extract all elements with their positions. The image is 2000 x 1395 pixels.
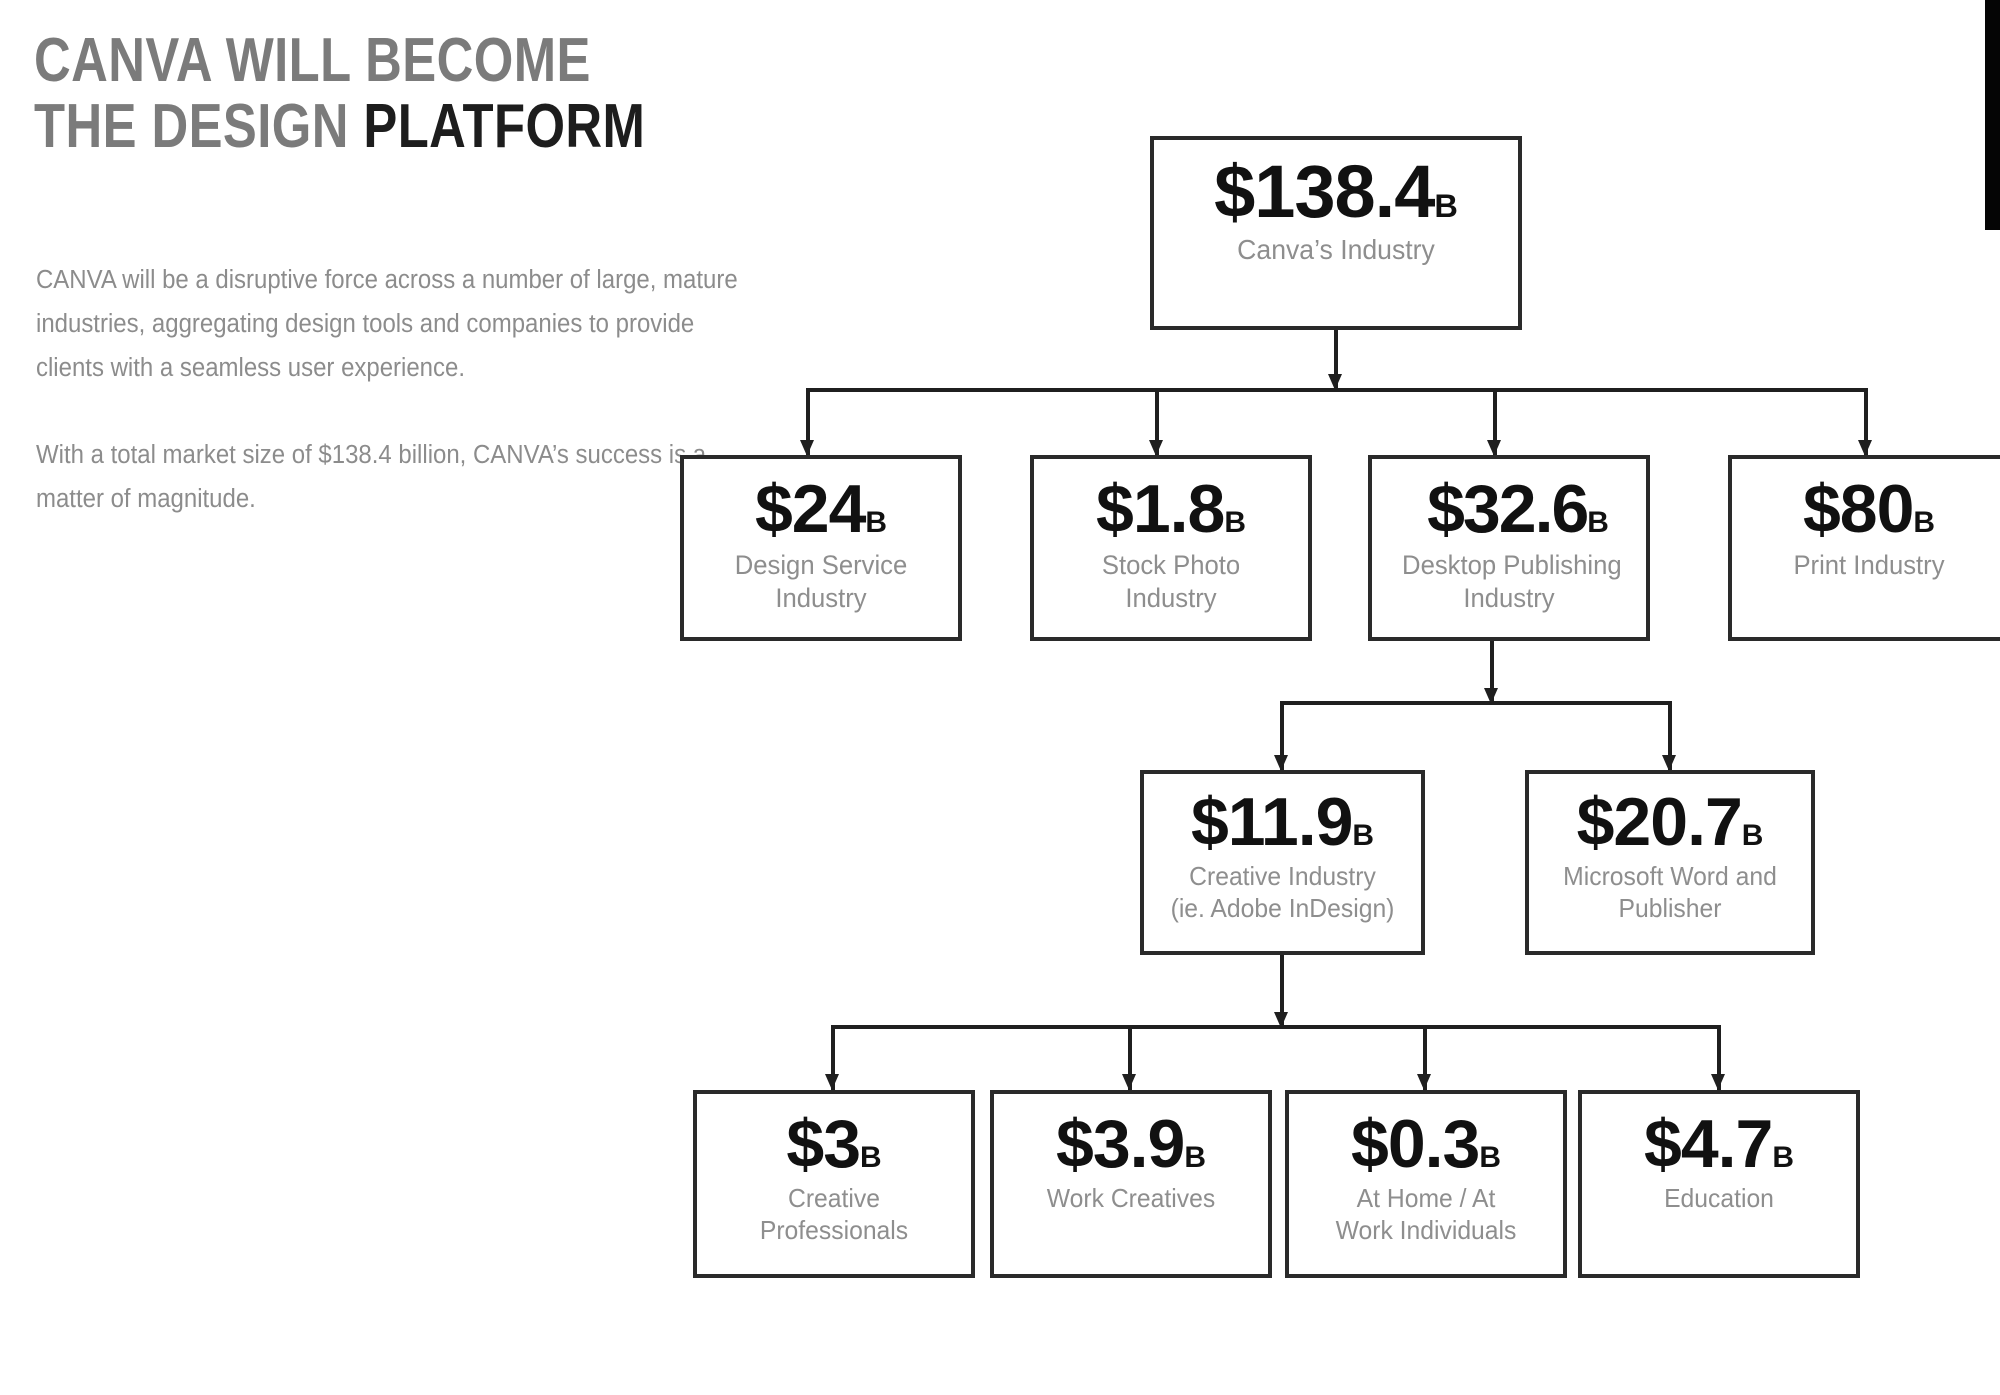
node-amount: $3.9B — [994, 1094, 1268, 1179]
node-amount-suffix: B — [1479, 1141, 1501, 1174]
node-amount-suffix: B — [1742, 819, 1764, 852]
connector-level3-bus — [1280, 701, 1672, 705]
node-label-line-1: Creative — [788, 1183, 880, 1213]
infographic-page: CANVA WILL BECOME THE DESIGN PLATFORM CA… — [0, 0, 2000, 1395]
node-amount-value: $32.6 — [1427, 471, 1587, 547]
arrow-print — [1858, 440, 1872, 456]
arrow-creative-professionals — [825, 1074, 839, 1090]
node-amount-suffix: B — [865, 506, 887, 539]
page-title: CANVA WILL BECOME THE DESIGN PLATFORM — [34, 28, 706, 160]
node-label-line-1: Print Industry — [1793, 550, 1944, 580]
node-amount-suffix: B — [1587, 506, 1609, 539]
node-label-line-2: Publisher — [1619, 893, 1722, 923]
arrow-design-service — [800, 440, 814, 456]
node-label: Creative Industry(ie. Adobe InDesign) — [1151, 857, 1414, 924]
headline-line-2-gray: THE DESIGN — [34, 92, 363, 161]
node-amount-suffix: B — [1913, 506, 1935, 539]
node-label-line-1: Microsoft Word and — [1563, 861, 1777, 891]
arrow-work-creatives — [1122, 1074, 1136, 1090]
node-amount-value: $1.8 — [1096, 471, 1224, 547]
arrow-at-home-individuals — [1417, 1074, 1431, 1090]
node-label: Design ServiceIndustry — [691, 544, 951, 615]
arrow-education — [1711, 1074, 1725, 1090]
node-amount-value: $24 — [755, 471, 865, 547]
node-canvas-industry[interactable]: $138.4B Canva’s Industry — [1150, 136, 1522, 330]
arrow-microsoft-word — [1662, 755, 1676, 771]
node-amount: $80B — [1732, 459, 2000, 544]
connector-level2-bus — [806, 388, 1868, 392]
node-education[interactable]: $4.7B Education — [1578, 1090, 1860, 1278]
node-amount-suffix: B — [1434, 188, 1458, 224]
node-amount-suffix: B — [1772, 1141, 1794, 1174]
arrow-desktop-publishing — [1487, 440, 1501, 456]
node-label: Microsoft Word andPublisher — [1536, 857, 1804, 924]
node-amount: $20.7B — [1529, 774, 1811, 857]
node-amount: $3B — [697, 1094, 971, 1179]
node-work-creatives[interactable]: $3.9B Work Creatives — [990, 1090, 1272, 1278]
node-amount-value: $80 — [1803, 471, 1913, 547]
arrow-creative-industry — [1274, 755, 1288, 771]
node-at-home-at-work-individuals[interactable]: $0.3B At Home / AtWork Individuals — [1285, 1090, 1567, 1278]
node-amount-value: $4.7 — [1644, 1106, 1772, 1182]
node-print-industry[interactable]: $80B Print Industry — [1728, 455, 2000, 641]
node-label-line-2: Work Individuals — [1336, 1215, 1517, 1245]
node-amount-value: $20.7 — [1577, 784, 1742, 860]
node-stock-photo-industry[interactable]: $1.8B Stock PhotoIndustry — [1030, 455, 1312, 641]
node-amount: $1.8B — [1034, 459, 1308, 544]
node-label: Canva’s Industry — [1163, 229, 1509, 267]
node-label: Stock PhotoIndustry — [1041, 544, 1301, 615]
connector-level4-bus — [831, 1025, 1721, 1029]
node-label-line-1: Desktop Publishing — [1379, 549, 1645, 582]
node-label: CreativeProfessionals — [704, 1179, 964, 1246]
node-amount-value: $3.9 — [1056, 1106, 1184, 1182]
node-label: At Home / AtWork Individuals — [1296, 1179, 1556, 1246]
node-amount-suffix: B — [860, 1141, 882, 1174]
node-label-line-1: Education — [1664, 1183, 1774, 1213]
node-label-line-2: (ie. Adobe InDesign) — [1171, 893, 1395, 923]
node-amount-suffix: B — [1224, 506, 1246, 539]
node-amount: $24B — [684, 459, 958, 544]
node-amount: $11.9B — [1144, 774, 1421, 857]
node-label-line-2: Industry — [775, 583, 866, 613]
node-microsoft-word-and-publisher[interactable]: $20.7B Microsoft Word andPublisher — [1525, 770, 1815, 955]
node-label-line-1: Creative Industry — [1189, 861, 1376, 891]
node-creative-industry[interactable]: $11.9B Creative Industry(ie. Adobe InDes… — [1140, 770, 1425, 955]
node-label: Education — [1589, 1179, 1849, 1215]
intro-paragraph-2: With a total market size of $138.4 billi… — [36, 433, 750, 521]
node-amount-suffix: B — [1352, 819, 1374, 852]
node-label-line-2: Industry — [1463, 583, 1554, 613]
headline-line-2-emphasis: PLATFORM — [363, 92, 645, 161]
node-design-service-industry[interactable]: $24B Design ServiceIndustry — [680, 455, 962, 641]
node-label-line-2: Industry — [1125, 583, 1216, 613]
right-edge-black-bar — [1985, 0, 2000, 230]
node-amount-value: $138.4 — [1214, 150, 1434, 233]
node-amount-suffix: B — [1184, 1141, 1206, 1174]
node-label-line-1: Work Creatives — [1047, 1183, 1215, 1213]
node-label: Work Creatives — [1001, 1179, 1261, 1215]
arrow-stock-photo — [1149, 440, 1163, 456]
node-amount: $0.3B — [1289, 1094, 1563, 1179]
node-amount: $4.7B — [1582, 1094, 1856, 1179]
node-label-line-2: Professionals — [760, 1215, 908, 1245]
node-amount-value: $3 — [786, 1106, 860, 1182]
node-amount-value: $11.9 — [1191, 784, 1352, 860]
node-amount: $32.6B — [1372, 459, 1664, 544]
node-label-line-1: Design Service — [735, 550, 907, 580]
node-label: Desktop PublishingIndustry — [1379, 544, 1639, 615]
node-label-line-1: Stock Photo — [1102, 550, 1240, 580]
node-label: Print Industry — [1739, 544, 1999, 582]
node-amount-value: $0.3 — [1351, 1106, 1479, 1182]
headline-line-1: CANVA WILL BECOME — [34, 26, 591, 95]
intro-paragraph-1: CANVA will be a disruptive force across … — [36, 258, 750, 390]
node-desktop-publishing-industry[interactable]: $32.6B Desktop PublishingIndustry — [1368, 455, 1650, 641]
node-label-line-1: At Home / At — [1357, 1183, 1496, 1213]
node-creative-professionals[interactable]: $3B CreativeProfessionals — [693, 1090, 975, 1278]
node-amount: $138.4B — [1154, 140, 1518, 229]
